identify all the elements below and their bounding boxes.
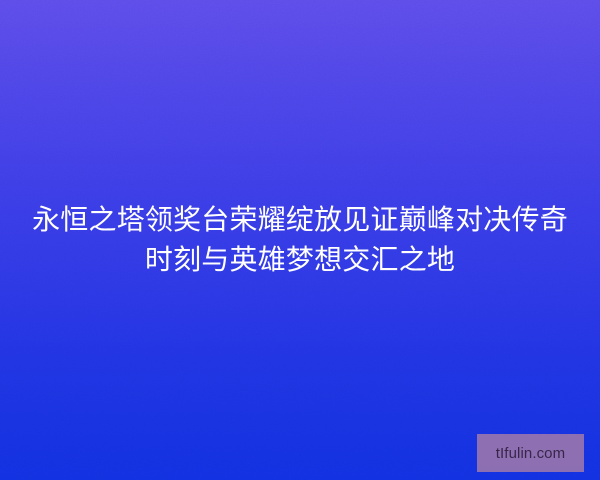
watermark-badge: tIfulin.com [477,434,584,472]
watermark-label: tIfulin.com [496,446,565,461]
headline-container: 永恒之塔领奖台荣耀绽放见证巅峰对决传奇时刻与英雄梦想交汇之地 [0,0,600,480]
banner-headline: 永恒之塔领奖台荣耀绽放见证巅峰对决传奇时刻与英雄梦想交汇之地 [20,200,580,280]
banner-image: 永恒之塔领奖台荣耀绽放见证巅峰对决传奇时刻与英雄梦想交汇之地 tIfulin.c… [0,0,600,480]
